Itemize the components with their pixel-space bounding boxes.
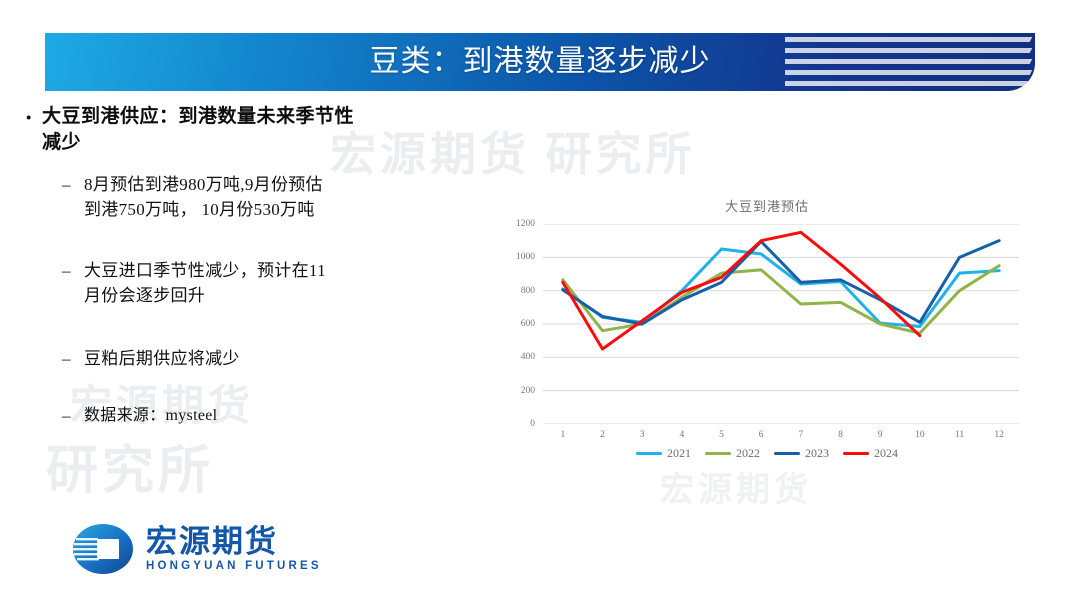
- legend-label: 2023: [805, 446, 829, 461]
- x-tick-label: 4: [679, 430, 684, 440]
- slide-title-bar: 豆类：到港数量逐步减少: [45, 33, 1035, 91]
- y-tick-label: 600: [521, 319, 535, 329]
- slide-root: 豆类：到港数量逐步减少 宏源期货 研究所 宏源期货 研究所 宏源期货 • 大豆到…: [0, 0, 1080, 608]
- sub-bullet-4-text: 数据来源：mysteel: [84, 403, 334, 428]
- legend-swatch-icon: [705, 452, 731, 455]
- sub-bullet-3-text: 豆粕后期供应将减少: [84, 346, 334, 371]
- legend-label: 2024: [874, 446, 898, 461]
- sub-bullet-2: – 大豆进口季节性减少，预计在11月份会逐步回升: [62, 258, 416, 308]
- bullet-main: • 大豆到港供应：到港数量未来季节性减少: [16, 104, 416, 156]
- y-tick-label: 1000: [516, 252, 535, 262]
- series-line-2023: [563, 241, 999, 324]
- legend-swatch-icon: [774, 452, 800, 455]
- legend-swatch-icon: [636, 452, 662, 455]
- page-title: 豆类：到港数量逐步减少: [45, 33, 1035, 91]
- watermark-mid-2: 研究所: [46, 428, 214, 503]
- dash-icon: –: [62, 403, 84, 428]
- x-tick-label: 8: [838, 430, 843, 440]
- chart-plot-area: [543, 224, 1019, 424]
- legend-item-2023[interactable]: 2023: [774, 446, 829, 461]
- sub-bullet-4: – 数据来源：mysteel: [62, 403, 416, 428]
- x-tick-label: 6: [759, 430, 764, 440]
- sub-bullet-2-text: 大豆进口季节性减少，预计在11月份会逐步回升: [84, 258, 334, 308]
- bullet-dot-icon: •: [16, 104, 42, 130]
- dash-icon: –: [62, 172, 84, 197]
- logo-text-cn: 宏源期货: [146, 526, 322, 558]
- legend-item-2022[interactable]: 2022: [705, 446, 760, 461]
- y-tick-label: 200: [521, 386, 535, 396]
- legend-label: 2022: [736, 446, 760, 461]
- x-tick-label: 9: [878, 430, 883, 440]
- x-tick-label: 12: [994, 430, 1004, 440]
- logo-mark-icon: [72, 522, 134, 576]
- x-tick-label: 3: [640, 430, 645, 440]
- logo-text-block: 宏源期货 HONGYUAN FUTURES: [146, 526, 322, 573]
- x-tick-label: 7: [798, 430, 803, 440]
- x-tick-label: 5: [719, 430, 724, 440]
- chart-plot-wrapper: 020040060080010001200 123456789101112: [497, 224, 1037, 434]
- company-logo: 宏源期货 HONGYUAN FUTURES: [72, 522, 322, 576]
- chart-container: 大豆到港预估 020040060080010001200 12345678910…: [497, 196, 1037, 480]
- sub-bullet-1-text: 8月预估到港980万吨,9月份预估到港750万吨， 10月份530万吨: [84, 172, 334, 222]
- logo-text-en: HONGYUAN FUTURES: [146, 559, 322, 573]
- x-tick-label: 10: [915, 430, 925, 440]
- legend-label: 2021: [667, 446, 691, 461]
- y-tick-label: 800: [521, 286, 535, 296]
- sub-bullet-1: – 8月预估到港980万吨,9月份预估到港750万吨， 10月份530万吨: [62, 172, 416, 222]
- chart-y-axis-labels: 020040060080010001200: [497, 224, 539, 424]
- dash-icon: –: [62, 346, 84, 371]
- legend-item-2021[interactable]: 2021: [636, 446, 691, 461]
- chart-title: 大豆到港预估: [497, 196, 1037, 215]
- bullet-main-text: 大豆到港供应：到港数量未来季节性减少: [42, 104, 362, 156]
- chart-svg: [543, 224, 1019, 424]
- chart-legend: 2021202220232024: [497, 446, 1037, 461]
- legend-swatch-icon: [843, 452, 869, 455]
- legend-item-2024[interactable]: 2024: [843, 446, 898, 461]
- dash-icon: –: [62, 258, 84, 283]
- x-tick-label: 2: [600, 430, 605, 440]
- chart-x-axis-labels: 123456789101112: [543, 430, 1019, 446]
- x-tick-label: 11: [955, 430, 964, 440]
- bullet-list: • 大豆到港供应：到港数量未来季节性减少 – 8月预估到港980万吨,9月份预估…: [16, 104, 416, 428]
- y-tick-label: 400: [521, 352, 535, 362]
- y-tick-label: 1200: [516, 219, 535, 229]
- x-tick-label: 1: [560, 430, 565, 440]
- sub-bullet-3: – 豆粕后期供应将减少: [62, 346, 416, 371]
- y-tick-label: 0: [530, 419, 535, 429]
